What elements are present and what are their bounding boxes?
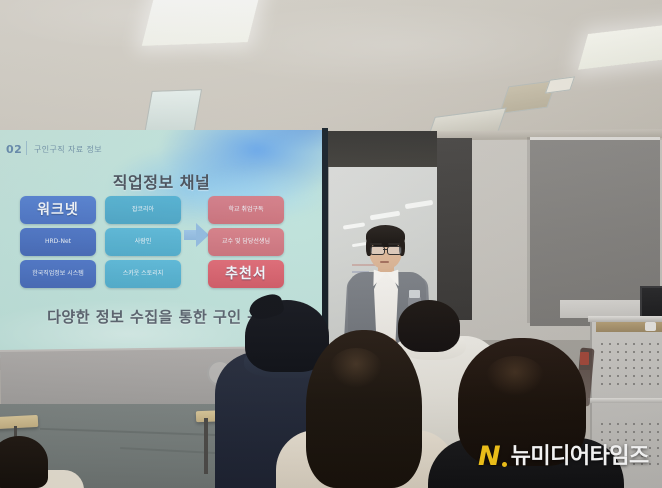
slide-box: 워크넷 bbox=[20, 196, 96, 224]
ceiling-texture bbox=[0, 0, 662, 150]
watermark: N 뉴미디어타임즈 bbox=[478, 443, 649, 470]
student-hair-highlight bbox=[486, 356, 544, 396]
presenter-badge bbox=[409, 290, 420, 298]
slide-box: HRD-Net bbox=[20, 228, 96, 256]
slide-box: 잡코리아 bbox=[105, 196, 181, 224]
ceiling bbox=[0, 0, 662, 150]
rack-rail bbox=[588, 398, 662, 403]
slide-column-public: 워크넷 HRD-Net 한국직업정보 시스템 bbox=[20, 196, 96, 292]
slide-box: 추천서 bbox=[208, 260, 284, 288]
presenter-mouth bbox=[380, 261, 389, 263]
slide-column-referral: 학교 취업구독 교수 및 담당선생님 추천서 bbox=[208, 196, 284, 292]
slide-title: 직업정보 채널 bbox=[0, 169, 325, 193]
lecture-photo-scene: 02 구인구직 자료 정보 직업정보 채널 워크넷 HRD-Net 한국직업정보… bbox=[0, 0, 662, 488]
slide-box: 스카웃 스토리지 bbox=[105, 260, 181, 288]
red-device-box bbox=[580, 352, 589, 365]
watermark-logo-icon: N bbox=[478, 443, 500, 470]
slide-header-divider bbox=[26, 141, 27, 155]
slide-section-number: 02 bbox=[6, 143, 22, 156]
slide-box: 학교 취업구독 bbox=[208, 196, 284, 224]
watermark-dot-icon bbox=[502, 462, 507, 467]
presenter-eyebrow bbox=[370, 243, 382, 245]
glasses-icon bbox=[387, 246, 402, 255]
watermark-text: 뉴미디어타임즈 bbox=[511, 446, 649, 468]
slide-channel-columns: 워크넷 HRD-Net 한국직업정보 시스템 잡코리아 사람인 스카웃 스토리지… bbox=[0, 196, 325, 294]
desk-leg bbox=[204, 418, 208, 474]
slide-box: 사람인 bbox=[105, 228, 181, 256]
right-arrow-icon bbox=[184, 222, 208, 248]
ceiling-light-panel bbox=[142, 0, 264, 46]
slide-box: 한국직업정보 시스템 bbox=[20, 260, 96, 288]
glasses-icon bbox=[370, 246, 385, 255]
slide-section-label: 구인구직 자료 정보 bbox=[34, 144, 102, 155]
rack-knob[interactable] bbox=[645, 322, 656, 331]
dark-wall-panel bbox=[325, 131, 437, 169]
slide-box: 교수 및 담당선생님 bbox=[208, 228, 284, 256]
student-hair-highlight bbox=[330, 348, 382, 388]
glasses-bridge bbox=[383, 249, 387, 250]
slide-column-private: 잡코리아 사람인 스카웃 스토리지 bbox=[105, 196, 181, 292]
presenter-eyebrow bbox=[388, 243, 400, 245]
rack-perforated-panel bbox=[598, 340, 660, 388]
ceiling-vent bbox=[144, 89, 202, 135]
desk bbox=[0, 415, 38, 429]
student-head bbox=[398, 300, 460, 352]
